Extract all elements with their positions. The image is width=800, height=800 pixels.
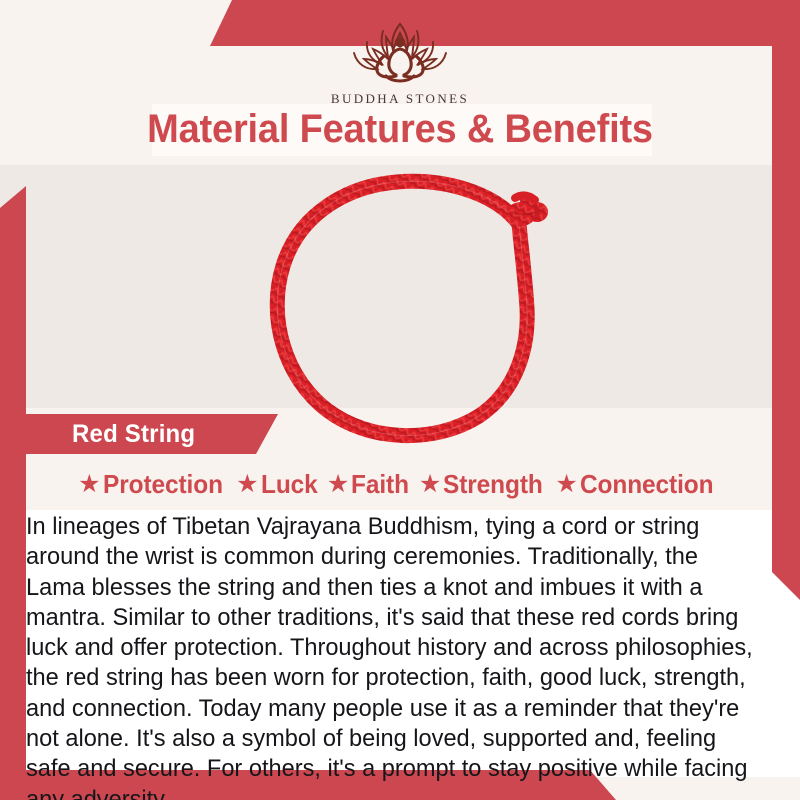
feature-item-protection: ★ Protection [78,469,230,500]
star-icon: ★ [327,472,349,497]
features-list: ★ Protection ★ Luck ★ Faith ★ Strength ★… [0,462,800,506]
brand-logo: BUDDHA STONES [0,16,800,107]
feature-item-faith: ★ Faith [327,469,413,500]
feature-label: Connection [580,469,713,500]
red-string-bracelet-photo [247,168,572,450]
star-icon: ★ [555,472,577,497]
description-paragraph: In lineages of Tibetan Vajrayana Buddhis… [26,512,755,800]
feature-label: Luck [261,469,318,500]
feature-item-strength: ★ Strength [419,469,550,500]
star-icon: ★ [78,472,100,497]
lotus-meditation-icon [338,16,462,88]
red-string-label: Red String [72,414,195,454]
feature-label: Protection [103,469,223,500]
feature-item-luck: ★ Luck [236,469,321,500]
feature-label: Strength [443,469,543,500]
feature-label: Faith [351,469,409,500]
feature-item-connection: ★ Connection [555,469,721,500]
star-icon: ★ [419,472,441,497]
star-icon: ★ [236,472,258,497]
product-infographic: BUDDHA STONES Material Features & Benefi… [0,0,800,800]
page-title: Material Features & Benefits [20,98,780,160]
